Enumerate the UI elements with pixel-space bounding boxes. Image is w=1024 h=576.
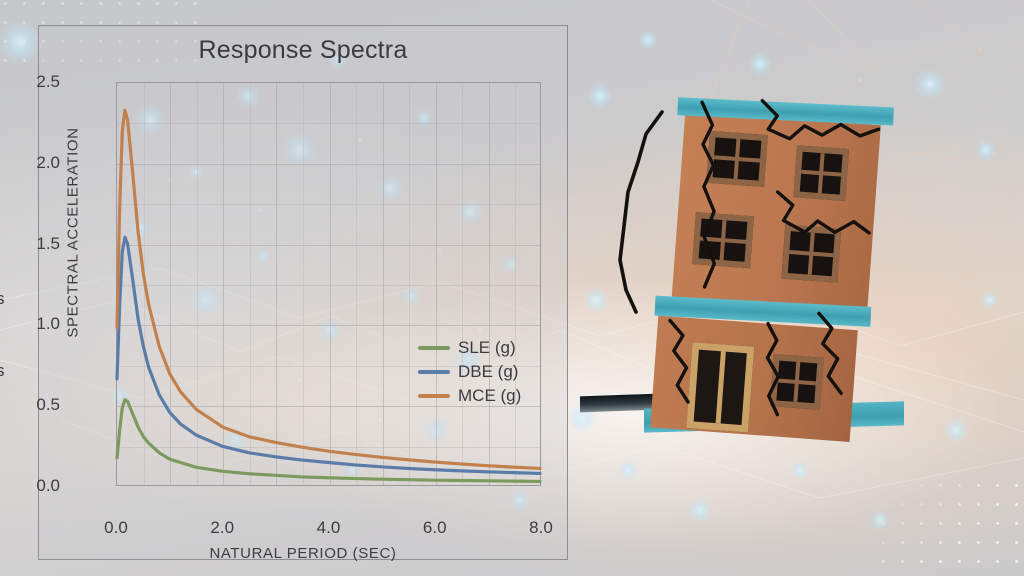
legend-label-dbe: DBE (g) bbox=[458, 362, 518, 382]
legend-item-dbe[interactable]: DBE (g) bbox=[418, 360, 521, 384]
plot-area bbox=[116, 82, 541, 486]
series-sle bbox=[117, 400, 540, 482]
structural-cracks bbox=[644, 88, 907, 425]
y-axis-tick-4: 2.0 bbox=[0, 153, 60, 173]
y-axis-tick-2: 1.0 bbox=[0, 314, 60, 334]
detached-crack-line bbox=[618, 108, 678, 318]
earthquake-damaged-building-illustration bbox=[600, 70, 980, 470]
legend-swatch-sle bbox=[418, 346, 450, 350]
y-axis-tick-0: 0.0 bbox=[0, 476, 60, 496]
building-body bbox=[644, 88, 907, 425]
spectra-curves bbox=[117, 83, 540, 485]
response-spectra-chart-panel: Response Spectra 0.0 0.5 1.0 1.5 2.0 2.5… bbox=[38, 25, 568, 560]
dot-grid-bottom-right-decoration bbox=[874, 476, 1024, 576]
x-axis-tick-1: 2.0 bbox=[192, 518, 252, 538]
x-axis-tick-2: 4.0 bbox=[299, 518, 359, 538]
y-axis-label: SPECTRAL ACCELERATION bbox=[65, 103, 82, 363]
x-axis-tick-4: 8.0 bbox=[511, 518, 571, 538]
series-mce bbox=[117, 110, 540, 468]
legend-label-mce: MCE (g) bbox=[458, 386, 521, 406]
legend-item-sle[interactable]: SLE (g) bbox=[418, 336, 521, 360]
legend-label-sle: SLE (g) bbox=[458, 338, 516, 358]
chart-title: Response Spectra bbox=[39, 36, 567, 65]
x-axis-tick-3: 6.0 bbox=[405, 518, 465, 538]
slide-canvas: s s Response Spectra 0.0 0.5 1.0 1.5 2.0… bbox=[0, 0, 1024, 576]
y-axis-tick-5: 2.5 bbox=[0, 72, 60, 92]
y-axis-tick-1: 0.5 bbox=[0, 395, 60, 415]
x-axis-label: NATURAL PERIOD (SEC) bbox=[39, 545, 567, 562]
legend-item-mce[interactable]: MCE (g) bbox=[418, 384, 521, 408]
legend-swatch-dbe bbox=[418, 370, 450, 374]
edge-text-fragment-2: s bbox=[0, 362, 5, 379]
x-axis-tick-0: 0.0 bbox=[86, 518, 146, 538]
edge-text-fragment-1: s bbox=[0, 290, 5, 307]
legend-swatch-mce bbox=[418, 394, 450, 398]
chart-legend: SLE (g) DBE (g) MCE (g) bbox=[418, 336, 521, 408]
y-axis-tick-3: 1.5 bbox=[0, 234, 60, 254]
